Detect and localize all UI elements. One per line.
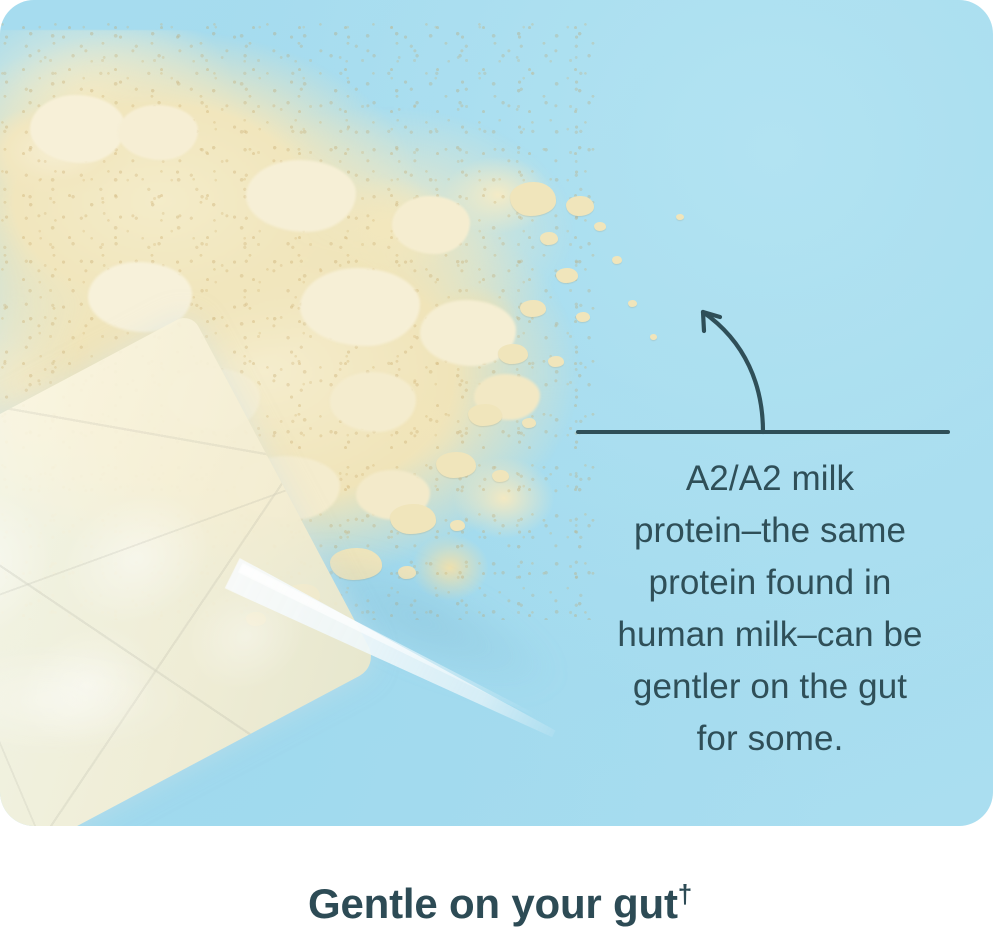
annotation-caption: A2/A2 milk protein–the same protein foun… [560, 453, 980, 765]
milk-powder-chunk-top-left [0, 70, 200, 250]
product-photo-panel: A2/A2 milk protein–the same protein foun… [0, 0, 993, 826]
headline-text: Gentle on your gut [308, 880, 678, 927]
scoop-crack-texture [0, 312, 379, 826]
powder-crumb [566, 196, 594, 216]
powder-clump [246, 160, 356, 232]
powder-clump [330, 372, 416, 432]
powder-crumb [390, 504, 436, 534]
powder-crumb [498, 344, 528, 364]
powder-clump [300, 268, 420, 346]
powder-crumb [594, 222, 606, 231]
milk-powder-edge-upper-right [300, 140, 600, 390]
caption-line: protein–the same [560, 505, 980, 557]
caption-line: for some. [560, 713, 980, 765]
powder-crumb [436, 452, 476, 478]
powder-clump [356, 470, 430, 520]
powder-crumb [540, 232, 558, 245]
scoop-rim-glow [0, 620, 230, 820]
powder-crumb [398, 566, 416, 579]
powder-clump [474, 374, 540, 420]
scoop-handle-highlight [238, 563, 538, 720]
powder-clump [236, 456, 340, 520]
measuring-scoop-cup [0, 312, 379, 826]
powder-crumb [492, 470, 509, 482]
caption-line: human milk–can be [560, 609, 980, 661]
powder-crumb [330, 548, 382, 580]
powder-clump [88, 262, 192, 332]
curved-arrow-up-left-icon [703, 312, 763, 432]
caption-line: gentler on the gut [560, 661, 980, 713]
footnote-dagger-icon: † [678, 879, 692, 909]
powder-clump [420, 300, 516, 366]
powder-crumb [556, 268, 578, 283]
powder-crumb [676, 214, 684, 220]
powder-grain-texture [0, 20, 600, 620]
caption-line: protein found in [560, 557, 980, 609]
powder-clump [30, 95, 125, 163]
powder-clump [392, 196, 470, 254]
powder-crumb [612, 256, 622, 264]
powder-crumb [286, 584, 320, 606]
annotation-arrow-group [560, 290, 980, 450]
annotation-callout: A2/A2 milk protein–the same protein foun… [560, 290, 980, 770]
powder-crumb [520, 300, 546, 317]
powder-crumb [468, 404, 502, 426]
powder-crumb [522, 418, 536, 428]
caption-line: A2/A2 milk [560, 453, 980, 505]
powder-crumb [510, 182, 556, 216]
powder-crumb [450, 520, 465, 531]
page-headline: Gentle on your gut† [0, 880, 1000, 928]
powder-clump [118, 105, 198, 160]
milk-powder-pile [0, 30, 580, 600]
scoop-surface-highlights [0, 312, 379, 826]
measuring-scoop-handle [224, 558, 561, 749]
powder-crumb [246, 612, 266, 626]
powder-clump [168, 368, 260, 430]
